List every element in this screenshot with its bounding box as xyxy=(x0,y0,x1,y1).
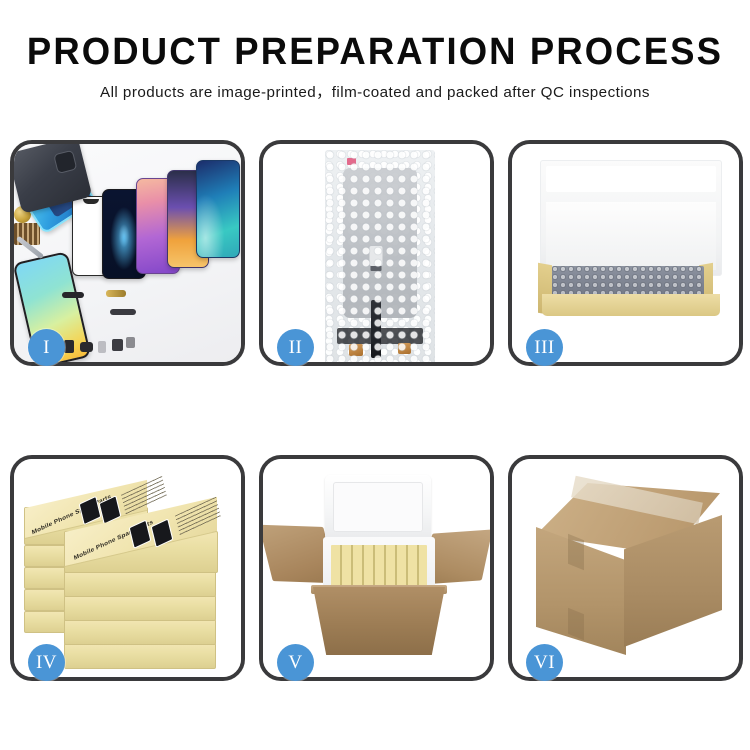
kraft-box-front xyxy=(542,294,720,316)
header: PRODUCT PREPARATION PROCESS All products… xyxy=(0,30,750,102)
shipping-carton-open xyxy=(313,587,445,655)
small-component-2 xyxy=(80,342,93,352)
step-badge-2: II xyxy=(277,329,314,366)
qc-sticker xyxy=(347,158,356,165)
foam-liner xyxy=(546,202,716,270)
black-module-part xyxy=(62,292,84,298)
box-spec-text-front xyxy=(175,497,221,536)
process-step-panel-2: II xyxy=(259,140,494,366)
bubble-wrap-bag xyxy=(325,150,435,362)
retail-box-fr-3 xyxy=(64,595,216,621)
small-component-4 xyxy=(112,339,123,351)
retail-box-fr-2 xyxy=(64,571,216,597)
retail-box-fr-5 xyxy=(64,643,216,669)
retail-box-stack: Mobile Phone Spare Parts xyxy=(20,473,241,673)
gold-connector-part xyxy=(106,290,126,297)
lcd-screen-assembly xyxy=(343,168,417,318)
step-badge-6: VI xyxy=(526,644,563,681)
retail-box-fr-4 xyxy=(64,619,216,645)
page-title: PRODUCT PREPARATION PROCESS xyxy=(15,30,735,74)
gold-connector-left xyxy=(349,344,363,356)
small-component-5 xyxy=(126,337,135,348)
flex-cable-part xyxy=(110,309,136,315)
step-badge-1: I xyxy=(28,329,65,366)
phone-display-teal xyxy=(196,160,240,258)
retail-box-fr-1: Mobile Phone Spare Parts xyxy=(64,531,218,573)
process-step-panel-6: VI xyxy=(508,455,743,681)
process-step-grid: I II xyxy=(10,140,743,681)
product-preparation-infographic: PRODUCT PREPARATION PROCESS All products… xyxy=(0,0,750,750)
connector-strip xyxy=(337,328,423,344)
step-badge-4: IV xyxy=(28,644,65,681)
process-step-panel-4: Mobile Phone Spare Parts xyxy=(10,455,245,681)
process-step-panel-1: I xyxy=(10,140,245,366)
process-step-panel-5: V xyxy=(259,455,494,681)
process-step-panel-3: III xyxy=(508,140,743,366)
step-badge-3: III xyxy=(526,329,563,366)
foam-box-lid xyxy=(325,475,431,541)
gold-connector-right xyxy=(398,343,411,354)
step-badge-5: V xyxy=(277,644,314,681)
small-component-3 xyxy=(98,341,106,353)
box-art-screen-f2 xyxy=(151,518,174,547)
page-subtitle: All products are image-printed，film-coat… xyxy=(0,80,750,102)
carton-seam-upper xyxy=(568,534,584,570)
small-component-1 xyxy=(64,340,74,353)
display-driver-chip xyxy=(369,246,382,266)
